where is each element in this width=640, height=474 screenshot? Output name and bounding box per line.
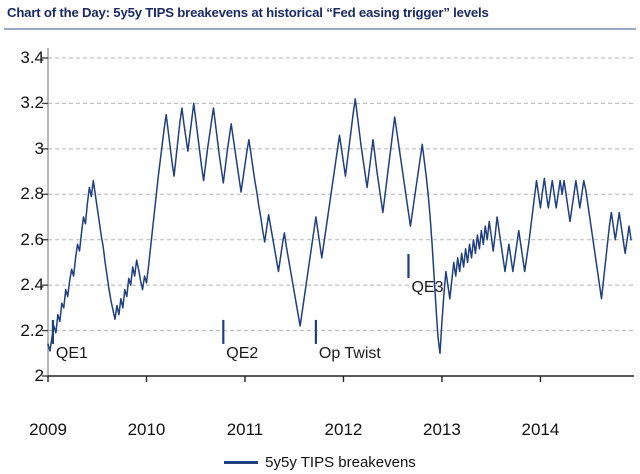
line-chart-svg <box>0 36 640 426</box>
y-axis-tick-label: 2.8 <box>10 184 44 204</box>
chart-annotation-qe1: QE1 <box>56 345 88 363</box>
y-axis-tick-label: 3 <box>10 139 44 159</box>
axis-lines <box>48 48 634 376</box>
chart-annotation-qe3: QE3 <box>411 279 443 297</box>
chart-annotation-op-twist: Op Twist <box>319 345 381 363</box>
plot-area: 22.22.42.62.833.23.4 QE1QE2Op TwistQE3 <box>0 36 640 426</box>
chart-annotation-qe2: QE2 <box>226 345 258 363</box>
x-axis-tick-label: 2013 <box>423 420 461 440</box>
data-series-group <box>48 99 631 353</box>
x-axis-tick-label: 2012 <box>325 420 363 440</box>
title-bar: Chart of the Day: 5y5y TIPS breakevens a… <box>0 0 640 34</box>
title-divider <box>4 28 636 30</box>
legend-label-breakevens: 5y5y TIPS breakevens <box>265 454 416 471</box>
y-axis-tick-label: 3.2 <box>10 93 44 113</box>
legend-line-swatch <box>224 461 258 464</box>
x-axis-labels: 200920102011201220132014 <box>0 420 640 450</box>
x-axis-tick-label: 2009 <box>29 420 67 440</box>
x-axis-tick-label: 2014 <box>522 420 560 440</box>
chart-container: 22.22.42.62.833.23.4 QE1QE2Op TwistQE3 2… <box>0 36 640 473</box>
y-axis-tick-label: 2.6 <box>10 230 44 250</box>
chart-legend: 5y5y TIPS breakevens <box>0 450 640 474</box>
page-title: Chart of the Day: 5y5y TIPS breakevens a… <box>7 5 489 20</box>
x-axis-tick-label: 2010 <box>128 420 166 440</box>
x-axis-tick-label: 2011 <box>227 420 264 440</box>
y-axis-tick-label: 3.4 <box>10 48 44 68</box>
axis-ticks <box>42 58 540 382</box>
y-axis-labels: 22.22.42.62.833.23.4 <box>0 36 44 426</box>
chart-page: Chart of the Day: 5y5y TIPS breakevens a… <box>0 0 640 473</box>
y-axis-tick-label: 2.4 <box>10 275 44 295</box>
y-axis-tick-label: 2 <box>10 366 44 386</box>
y-axis-tick-label: 2.2 <box>10 321 44 341</box>
